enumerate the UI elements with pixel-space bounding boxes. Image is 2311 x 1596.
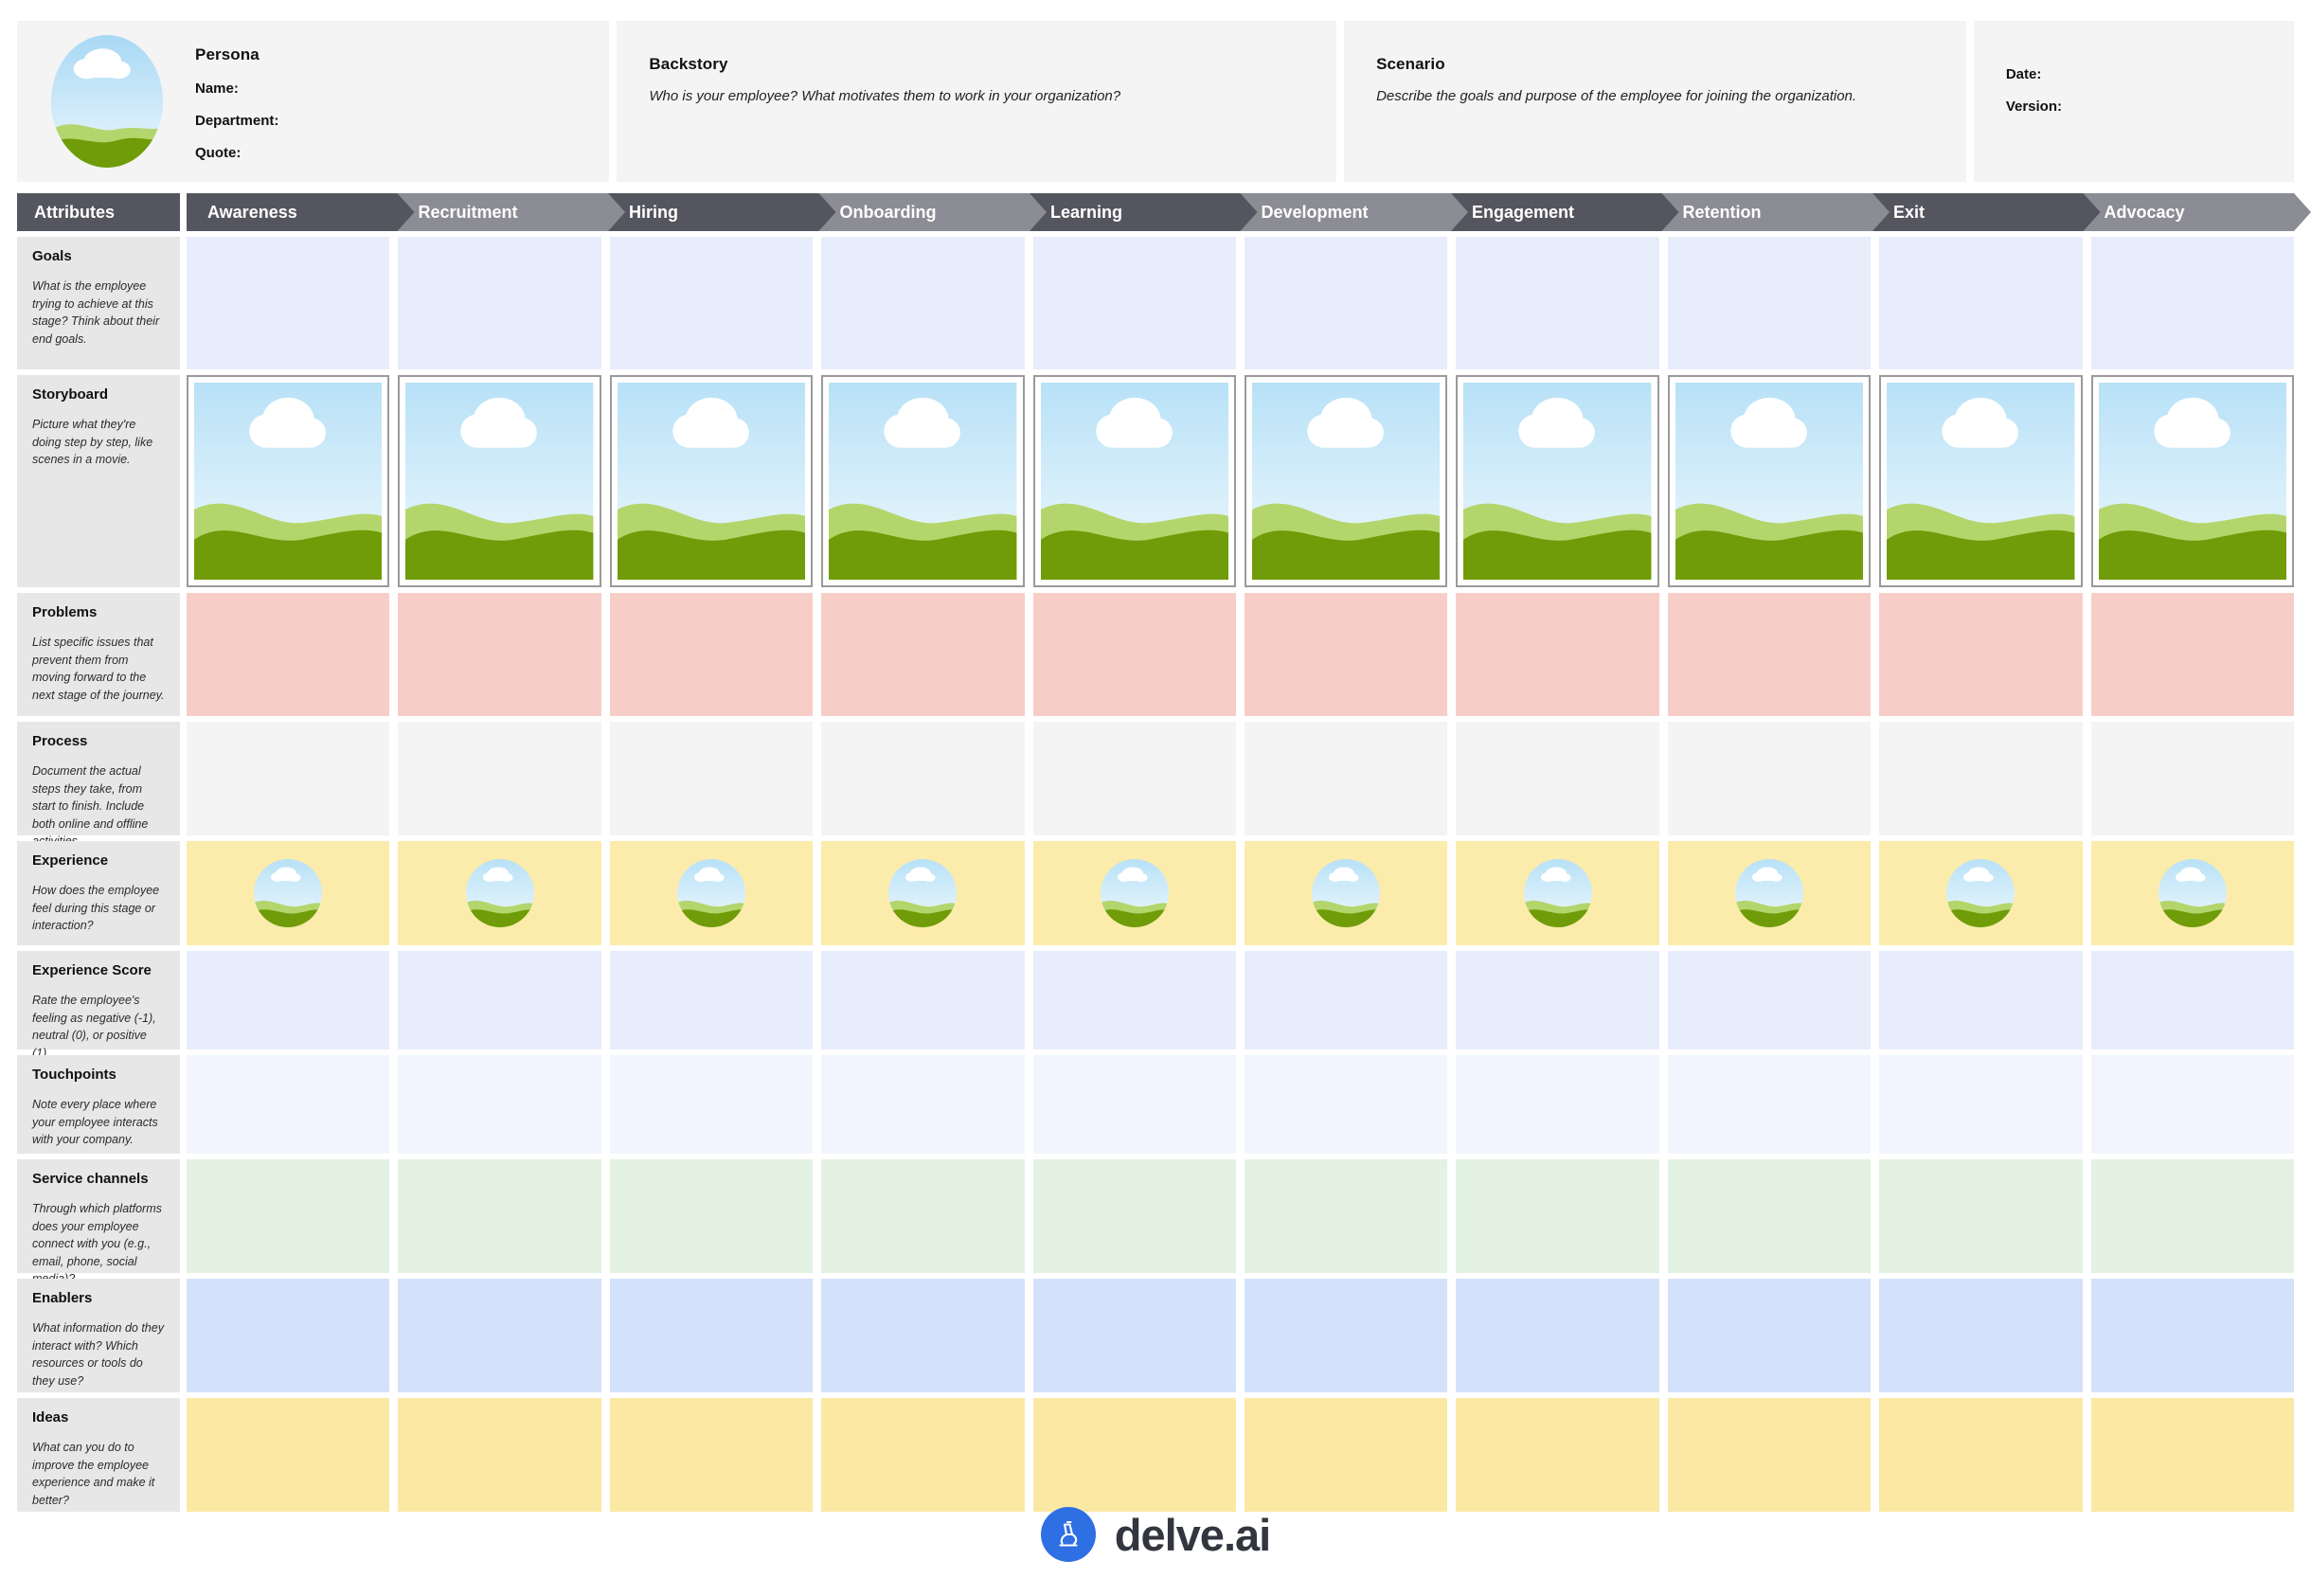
cell-ideas-awareness[interactable] — [187, 1398, 389, 1512]
cell-experience-retention[interactable] — [1668, 841, 1871, 945]
cell-experience-hiring[interactable] — [610, 841, 813, 945]
cell-service_channels-development[interactable] — [1245, 1159, 1447, 1273]
cell-experience_score-retention[interactable] — [1668, 951, 1871, 1049]
stage-chevron-recruitment[interactable]: Recruitment — [398, 193, 626, 231]
cell-enablers-hiring[interactable] — [610, 1279, 813, 1392]
stage-chevron-learning[interactable]: Learning — [1030, 193, 1258, 231]
stage-chevron-exit[interactable]: Exit — [1872, 193, 2101, 231]
cell-ideas-advocacy[interactable] — [2091, 1398, 2294, 1512]
cell-goals-development[interactable] — [1245, 237, 1447, 369]
landscape-placeholder-icon — [51, 35, 163, 168]
cell-touchpoints-development[interactable] — [1245, 1055, 1447, 1154]
cell-touchpoints-engagement[interactable] — [1456, 1055, 1658, 1154]
stage-label: Development — [1262, 203, 1369, 223]
cell-problems-retention[interactable] — [1668, 593, 1871, 716]
stage-chevron-awareness[interactable]: Awareness — [187, 193, 415, 231]
backstory-card[interactable]: Backstory Who is your employee? What mot… — [617, 21, 1336, 182]
row-cells — [187, 1398, 2294, 1512]
scenario-card[interactable]: Scenario Describe the goals and purpose … — [1344, 21, 1966, 182]
attribute-description: What is the employee trying to achieve a… — [32, 278, 167, 348]
attribute-name: Goals — [32, 248, 167, 264]
cell-experience-advocacy[interactable] — [2091, 841, 2294, 945]
cell-ideas-retention[interactable] — [1668, 1398, 1871, 1512]
cell-goals-learning[interactable] — [1033, 237, 1236, 369]
cell-goals-awareness[interactable] — [187, 237, 389, 369]
cell-process-recruitment[interactable] — [398, 722, 600, 835]
row-cells — [187, 1159, 2294, 1273]
cell-experience_score-learning[interactable] — [1033, 951, 1236, 1049]
cell-problems-recruitment[interactable] — [398, 593, 600, 716]
stage-label: Onboarding — [840, 203, 937, 223]
journey-row-ideas: IdeasWhat can you do to improve the empl… — [17, 1398, 2294, 1512]
journey-grid-body: GoalsWhat is the employee trying to achi… — [17, 237, 2294, 1512]
cell-experience_score-engagement[interactable] — [1456, 951, 1658, 1049]
cell-service_channels-retention[interactable] — [1668, 1159, 1871, 1273]
cell-service_channels-engagement[interactable] — [1456, 1159, 1658, 1273]
cell-storyboard-awareness[interactable] — [187, 375, 389, 587]
version-label[interactable]: Version: — [2006, 99, 2262, 115]
stage-chevron-onboarding[interactable]: Onboarding — [819, 193, 1048, 231]
cell-experience_score-recruitment[interactable] — [398, 951, 600, 1049]
cell-touchpoints-learning[interactable] — [1033, 1055, 1236, 1154]
cell-goals-recruitment[interactable] — [398, 237, 600, 369]
microscope-icon — [1041, 1507, 1096, 1562]
brand-name: delve.ai — [1115, 1509, 1270, 1561]
cell-process-onboarding[interactable] — [821, 722, 1024, 835]
landscape-placeholder-icon — [466, 859, 534, 927]
cell-experience_score-advocacy[interactable] — [2091, 951, 2294, 1049]
cell-service_channels-recruitment[interactable] — [398, 1159, 600, 1273]
cell-experience-learning[interactable] — [1033, 841, 1236, 945]
attribute-description: What information do they interact with? … — [32, 1319, 167, 1390]
row-cells — [187, 951, 2294, 1049]
date-label[interactable]: Date: — [2006, 66, 2262, 82]
cell-experience-development[interactable] — [1245, 841, 1447, 945]
scenario-title: Scenario — [1376, 55, 1934, 74]
landscape-placeholder-icon — [254, 859, 322, 927]
stage-label: Advocacy — [2105, 203, 2185, 223]
cell-service_channels-awareness[interactable] — [187, 1159, 389, 1273]
attribute-cell-touchpoints: TouchpointsNote every place where your e… — [17, 1055, 180, 1154]
cell-goals-hiring[interactable] — [610, 237, 813, 369]
cell-storyboard-recruitment[interactable] — [398, 375, 600, 587]
stage-label: Exit — [1893, 203, 1925, 223]
persona-quote-label[interactable]: Quote: — [195, 145, 278, 161]
journey-row-experience: ExperienceHow does the employee feel dur… — [17, 841, 2294, 945]
cell-experience-exit[interactable] — [1879, 841, 2082, 945]
date-version-card[interactable]: Date: Version: — [1974, 21, 2294, 182]
cell-experience_score-onboarding[interactable] — [821, 951, 1024, 1049]
journey-row-enablers: EnablersWhat information do they interac… — [17, 1279, 2294, 1392]
cell-service_channels-exit[interactable] — [1879, 1159, 2082, 1273]
row-cells — [187, 841, 2294, 945]
cell-process-awareness[interactable] — [187, 722, 389, 835]
attribute-cell-service_channels: Service channelsThrough which platforms … — [17, 1159, 180, 1273]
cell-problems-awareness[interactable] — [187, 593, 389, 716]
cell-ideas-recruitment[interactable] — [398, 1398, 600, 1512]
stage-label: Learning — [1050, 203, 1122, 223]
stage-label: Awareness — [207, 203, 297, 223]
persona-name-label[interactable]: Name: — [195, 81, 278, 97]
cell-process-hiring[interactable] — [610, 722, 813, 835]
stage-chevrons: AwarenessRecruitmentHiringOnboardingLear… — [187, 193, 2294, 231]
backstory-prompt: Who is your employee? What motivates the… — [649, 88, 1304, 104]
cell-ideas-onboarding[interactable] — [821, 1398, 1024, 1512]
attribute-name: Touchpoints — [32, 1067, 167, 1083]
cell-storyboard-advocacy[interactable] — [2091, 375, 2294, 587]
cell-ideas-exit[interactable] — [1879, 1398, 2082, 1512]
cell-touchpoints-awareness[interactable] — [187, 1055, 389, 1154]
journey-row-service_channels: Service channelsThrough which platforms … — [17, 1159, 2294, 1273]
cell-touchpoints-hiring[interactable] — [610, 1055, 813, 1154]
stage-chevron-development[interactable]: Development — [1241, 193, 1469, 231]
journey-row-process: ProcessDocument the actual steps they ta… — [17, 722, 2294, 835]
persona-department-label[interactable]: Department: — [195, 113, 278, 129]
cell-touchpoints-exit[interactable] — [1879, 1055, 2082, 1154]
journey-map-header-strip: Persona Name: Department: Quote: Backsto… — [17, 21, 2294, 182]
brand-footer: delve.ai — [0, 1507, 2311, 1562]
attribute-cell-enablers: EnablersWhat information do they interac… — [17, 1279, 180, 1392]
journey-row-storyboard: StoryboardPicture what they're doing ste… — [17, 375, 2294, 587]
attribute-cell-experience: ExperienceHow does the employee feel dur… — [17, 841, 180, 945]
row-cells — [187, 722, 2294, 835]
journey-row-touchpoints: TouchpointsNote every place where your e… — [17, 1055, 2294, 1154]
journey-row-problems: ProblemsList specific issues that preven… — [17, 593, 2294, 716]
attribute-name: Storyboard — [32, 386, 167, 403]
cell-service_channels-onboarding[interactable] — [821, 1159, 1024, 1273]
attribute-name: Ideas — [32, 1409, 167, 1426]
stage-label: Retention — [1683, 203, 1762, 223]
attribute-cell-ideas: IdeasWhat can you do to improve the empl… — [17, 1398, 180, 1512]
attribute-cell-storyboard: StoryboardPicture what they're doing ste… — [17, 375, 180, 587]
attribute-name: Enablers — [32, 1290, 167, 1306]
cell-enablers-awareness[interactable] — [187, 1279, 389, 1392]
cell-storyboard-exit[interactable] — [1879, 375, 2082, 587]
attribute-description: Rate the employee's feeling as negative … — [32, 992, 167, 1062]
cell-experience_score-development[interactable] — [1245, 951, 1447, 1049]
cell-touchpoints-onboarding[interactable] — [821, 1055, 1024, 1154]
cell-problems-engagement[interactable] — [1456, 593, 1658, 716]
cell-enablers-onboarding[interactable] — [821, 1279, 1024, 1392]
landscape-placeholder-icon — [677, 859, 745, 927]
cell-enablers-retention[interactable] — [1668, 1279, 1871, 1392]
stage-chevron-retention[interactable]: Retention — [1662, 193, 1890, 231]
cell-service_channels-learning[interactable] — [1033, 1159, 1236, 1273]
cell-storyboard-learning[interactable] — [1033, 375, 1236, 587]
persona-card[interactable]: Persona Name: Department: Quote: — [17, 21, 609, 182]
row-cells — [187, 1279, 2294, 1392]
cell-enablers-learning[interactable] — [1033, 1279, 1236, 1392]
landscape-placeholder-icon — [1101, 859, 1169, 927]
cell-ideas-engagement[interactable] — [1456, 1398, 1658, 1512]
landscape-placeholder-icon — [2159, 859, 2227, 927]
cell-problems-onboarding[interactable] — [821, 593, 1024, 716]
cell-storyboard-development[interactable] — [1245, 375, 1447, 587]
attribute-description: List specific issues that prevent them f… — [32, 634, 167, 704]
stage-label: Hiring — [629, 203, 678, 223]
attribute-name: Process — [32, 733, 167, 749]
cell-service_channels-hiring[interactable] — [610, 1159, 813, 1273]
stage-chevron-advocacy[interactable]: Advocacy — [2084, 193, 2311, 231]
stage-label: Recruitment — [419, 203, 518, 223]
cell-goals-engagement[interactable] — [1456, 237, 1658, 369]
cell-ideas-learning[interactable] — [1033, 1398, 1236, 1512]
cell-touchpoints-retention[interactable] — [1668, 1055, 1871, 1154]
cell-enablers-exit[interactable] — [1879, 1279, 2082, 1392]
cell-storyboard-engagement[interactable] — [1456, 375, 1658, 587]
attribute-cell-experience_score: Experience ScoreRate the employee's feel… — [17, 951, 180, 1049]
landscape-placeholder-icon — [1946, 859, 2015, 927]
journey-row-goals: GoalsWhat is the employee trying to achi… — [17, 237, 2294, 369]
stage-chevron-hiring[interactable]: Hiring — [608, 193, 836, 231]
cell-problems-advocacy[interactable] — [2091, 593, 2294, 716]
landscape-placeholder-icon — [1735, 859, 1803, 927]
cell-process-learning[interactable] — [1033, 722, 1236, 835]
cell-service_channels-advocacy[interactable] — [2091, 1159, 2294, 1273]
attribute-description: Picture what they're doing step by step,… — [32, 416, 167, 469]
cell-process-retention[interactable] — [1668, 722, 1871, 835]
attribute-description: Note every place where your employee int… — [32, 1096, 167, 1149]
cell-experience_score-exit[interactable] — [1879, 951, 2082, 1049]
employee-journey-map-canvas: Persona Name: Department: Quote: Backsto… — [0, 0, 2311, 1596]
row-cells — [187, 375, 2294, 587]
cell-touchpoints-recruitment[interactable] — [398, 1055, 600, 1154]
cell-enablers-advocacy[interactable] — [2091, 1279, 2294, 1392]
attributes-column-header: Attributes — [17, 193, 180, 231]
attribute-cell-goals: GoalsWhat is the employee trying to achi… — [17, 237, 180, 369]
cell-experience-recruitment[interactable] — [398, 841, 600, 945]
cell-problems-hiring[interactable] — [610, 593, 813, 716]
cell-process-exit[interactable] — [1879, 722, 2082, 835]
stage-label: Engagement — [1472, 203, 1574, 223]
scenario-prompt: Describe the goals and purpose of the em… — [1376, 88, 1934, 104]
attribute-name: Service channels — [32, 1171, 167, 1187]
cell-process-advocacy[interactable] — [2091, 722, 2294, 835]
attribute-cell-problems: ProblemsList specific issues that preven… — [17, 593, 180, 716]
cell-goals-retention[interactable] — [1668, 237, 1871, 369]
cell-goals-advocacy[interactable] — [2091, 237, 2294, 369]
stage-header-row: Attributes AwarenessRecruitmentHiringOnb… — [17, 193, 2294, 231]
attribute-name: Experience Score — [32, 962, 167, 978]
cell-storyboard-retention[interactable] — [1668, 375, 1871, 587]
backstory-title: Backstory — [649, 55, 1304, 74]
cell-problems-exit[interactable] — [1879, 593, 2082, 716]
row-cells — [187, 237, 2294, 369]
journey-row-experience_score: Experience ScoreRate the employee's feel… — [17, 951, 2294, 1049]
row-cells — [187, 593, 2294, 716]
landscape-placeholder-icon — [1524, 859, 1592, 927]
cell-experience-awareness[interactable] — [187, 841, 389, 945]
cell-goals-onboarding[interactable] — [821, 237, 1024, 369]
cell-storyboard-hiring[interactable] — [610, 375, 813, 587]
cell-goals-exit[interactable] — [1879, 237, 2082, 369]
attribute-description: Document the actual steps they take, fro… — [32, 762, 167, 851]
cell-storyboard-onboarding[interactable] — [821, 375, 1024, 587]
attribute-cell-process: ProcessDocument the actual steps they ta… — [17, 722, 180, 835]
attribute-description: How does the employee feel during this s… — [32, 882, 167, 935]
cell-experience_score-awareness[interactable] — [187, 951, 389, 1049]
cell-problems-development[interactable] — [1245, 593, 1447, 716]
cell-ideas-hiring[interactable] — [610, 1398, 813, 1512]
cell-touchpoints-advocacy[interactable] — [2091, 1055, 2294, 1154]
stage-chevron-engagement[interactable]: Engagement — [1451, 193, 1679, 231]
cell-experience_score-hiring[interactable] — [610, 951, 813, 1049]
attribute-description: What can you do to improve the employee … — [32, 1439, 167, 1509]
landscape-placeholder-icon — [888, 859, 957, 927]
cell-ideas-development[interactable] — [1245, 1398, 1447, 1512]
cell-enablers-engagement[interactable] — [1456, 1279, 1658, 1392]
cell-process-engagement[interactable] — [1456, 722, 1658, 835]
row-cells — [187, 1055, 2294, 1154]
cell-experience-onboarding[interactable] — [821, 841, 1024, 945]
persona-title: Persona — [195, 45, 278, 64]
landscape-placeholder-icon — [1312, 859, 1380, 927]
cell-process-development[interactable] — [1245, 722, 1447, 835]
cell-enablers-development[interactable] — [1245, 1279, 1447, 1392]
attribute-name: Experience — [32, 852, 167, 869]
attribute-description: Through which platforms does your employ… — [32, 1200, 167, 1288]
cell-problems-learning[interactable] — [1033, 593, 1236, 716]
cell-enablers-recruitment[interactable] — [398, 1279, 600, 1392]
cell-experience-engagement[interactable] — [1456, 841, 1658, 945]
attribute-name: Problems — [32, 604, 167, 620]
